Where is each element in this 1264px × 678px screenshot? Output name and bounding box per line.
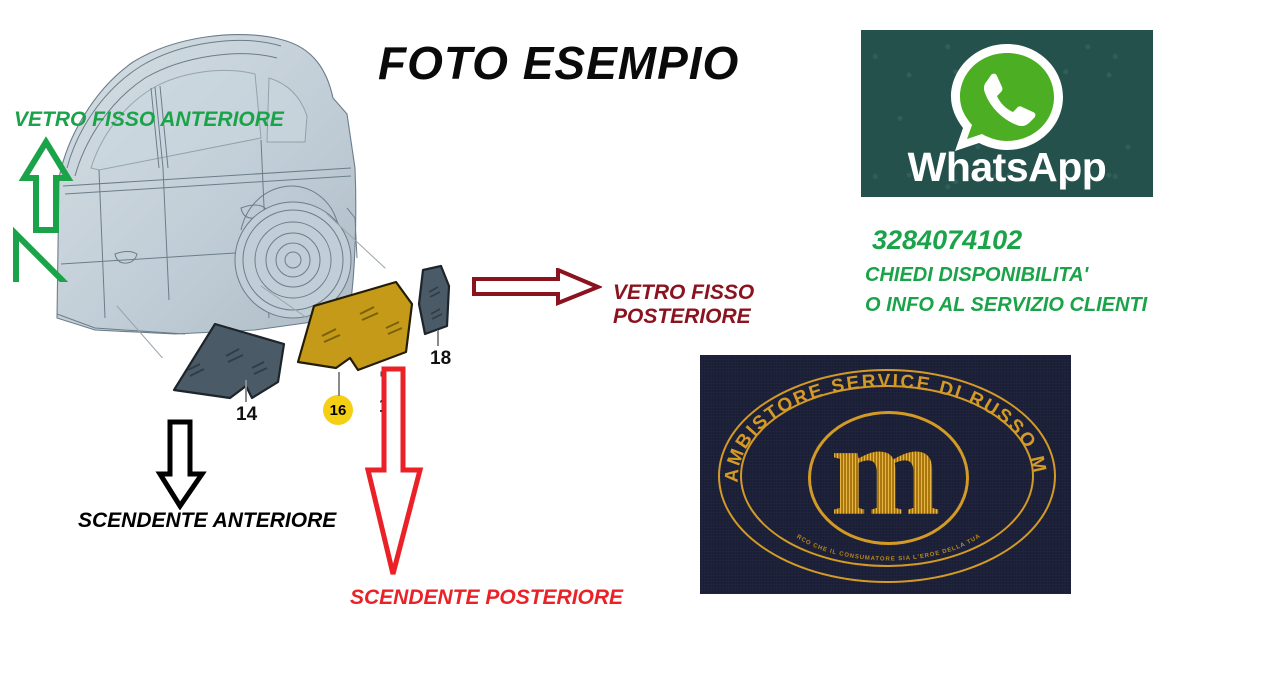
black-down-arrow-icon bbox=[152, 418, 214, 510]
part-number-14: 14 bbox=[236, 404, 257, 426]
label-vfp-line2: POSTERIORE bbox=[613, 305, 754, 329]
contact-line-1: CHIEDI DISPONIBILITA' bbox=[865, 264, 1088, 287]
poster-canvas: FOTO ESEMPIO VETRO FISSO ANTERIORE 14 bbox=[0, 0, 1264, 678]
label-vfp-line1: VETRO FISSO bbox=[613, 281, 754, 305]
phone-number[interactable]: 3284074102 bbox=[872, 225, 1022, 256]
svg-text:UN TIP ARCO CHE IL CONSUMATORE: UN TIP ARCO CHE IL CONSUMATORE SIA L'ERO… bbox=[700, 355, 982, 562]
leader-line-14 bbox=[245, 380, 247, 402]
label-vetro-fisso-posteriore: VETRO FISSO POSTERIORE bbox=[613, 281, 754, 328]
leader-line-18 bbox=[437, 330, 439, 346]
part-18-glass bbox=[413, 264, 461, 340]
red-down-arrow-icon bbox=[362, 366, 430, 584]
label-vetro-fisso-anteriore: VETRO FISSO ANTERIORE bbox=[14, 108, 284, 132]
leader-line-16 bbox=[338, 372, 340, 396]
label-scendente-posteriore: SCENDENTE POSTERIORE bbox=[350, 586, 623, 610]
dark-red-right-arrow-icon bbox=[472, 268, 602, 306]
label-scendente-anteriore: SCENDENTE ANTERIORE bbox=[78, 509, 336, 533]
contact-line-2: O INFO AL SERVIZIO CLIENTI bbox=[865, 294, 1147, 317]
part-number-18: 18 bbox=[430, 348, 451, 370]
green-up-arrow-icon bbox=[8, 134, 80, 282]
whatsapp-wordmark: WhatsApp bbox=[861, 144, 1153, 191]
logo-micro-text: UN TIP ARCO CHE IL CONSUMATORE SIA L'ERO… bbox=[700, 355, 1071, 594]
company-logo: MRICAMBISTORE SERVICE DI RUSSO MARCO m U… bbox=[700, 355, 1071, 594]
whatsapp-banner[interactable]: WhatsApp bbox=[861, 30, 1153, 197]
page-title: FOTO ESEMPIO bbox=[378, 36, 739, 90]
part-number-16-badge: 16 bbox=[323, 395, 353, 425]
part-14-glass bbox=[160, 320, 290, 420]
